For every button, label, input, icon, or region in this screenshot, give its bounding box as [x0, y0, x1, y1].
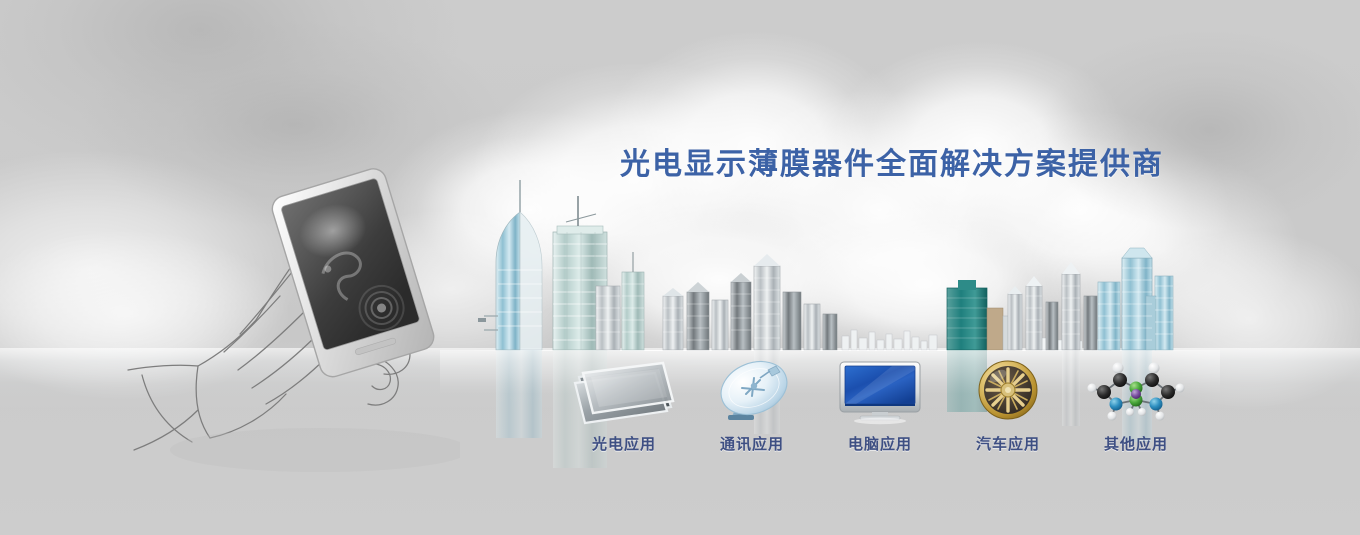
teal-tower — [947, 280, 1015, 350]
app-label: 其他应用 — [1072, 433, 1200, 454]
ice-blue-towers — [1098, 248, 1173, 350]
app-item-communications[interactable]: 通讯应用 — [688, 358, 816, 454]
page-title: 光电显示薄膜器件全面解决方案提供商 — [620, 139, 1164, 183]
app-item-computer[interactable]: 电脑应用 — [816, 358, 944, 454]
right-silver-towers — [1008, 262, 1111, 350]
app-label: 电脑应用 — [816, 433, 944, 454]
glass-film-panels-icon — [560, 358, 688, 426]
low-rise-cluster — [842, 330, 937, 350]
application-icon-row: 光电应用 — [560, 358, 1200, 470]
app-item-other[interactable]: 其他应用 — [1072, 358, 1200, 454]
computer-monitor-icon — [816, 358, 944, 426]
app-item-automotive[interactable]: 汽车应用 — [944, 358, 1072, 454]
hero-banner: 光电显示薄膜器件全面解决方案提供商 — [0, 0, 1360, 535]
satellite-dish-icon — [688, 358, 816, 426]
app-label: 光电应用 — [560, 433, 688, 454]
app-label: 通讯应用 — [688, 433, 816, 454]
app-item-optoelectronic[interactable]: 光电应用 — [560, 358, 688, 454]
sail-tower — [478, 180, 542, 350]
central-cluster — [663, 254, 837, 350]
molecule-model-icon — [1072, 358, 1200, 426]
car-wheel-rim-icon — [944, 358, 1072, 426]
app-label: 汽车应用 — [944, 433, 1072, 454]
